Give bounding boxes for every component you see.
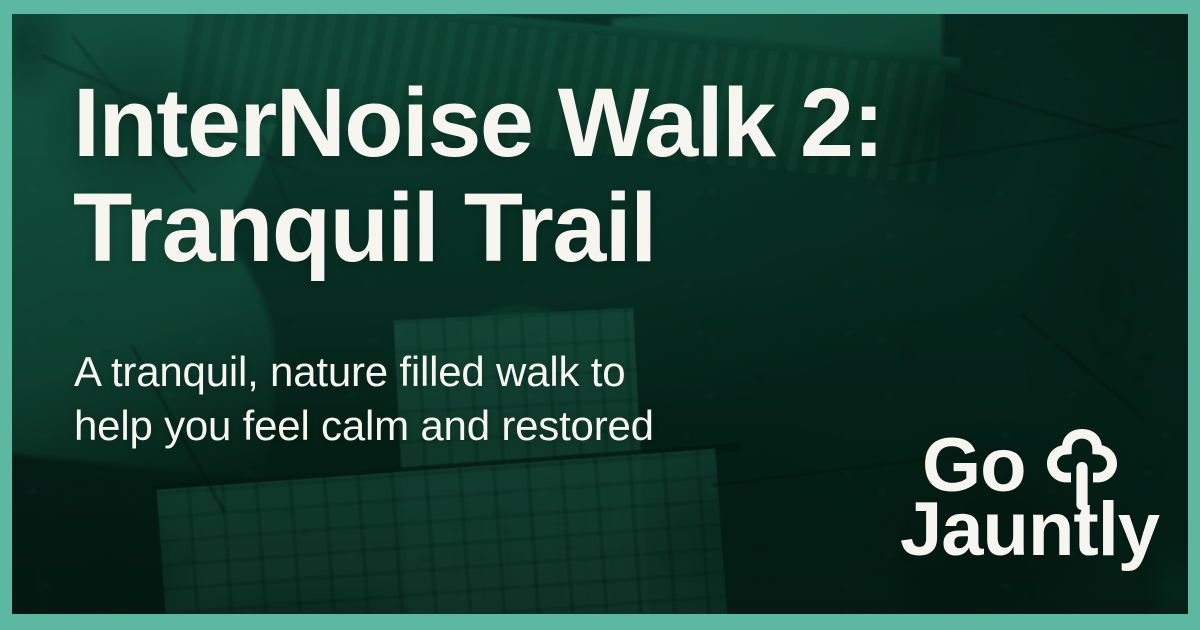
page-subtitle: A tranquil, nature filled walk to help y… bbox=[74, 345, 834, 453]
hero-image-stage: InterNoise Walk 2: Tranquil Trail A tran… bbox=[12, 14, 1188, 614]
go-jauntly-logo[interactable]: Go Jauntly bbox=[900, 428, 1136, 568]
logo-word-jauntly: Jauntly bbox=[900, 492, 1159, 568]
social-share-card: InterNoise Walk 2: Tranquil Trail A tran… bbox=[0, 0, 1200, 630]
page-title: InterNoise Walk 2: Tranquil Trail bbox=[73, 70, 1073, 280]
hero-content: InterNoise Walk 2: Tranquil Trail A tran… bbox=[12, 14, 1188, 614]
